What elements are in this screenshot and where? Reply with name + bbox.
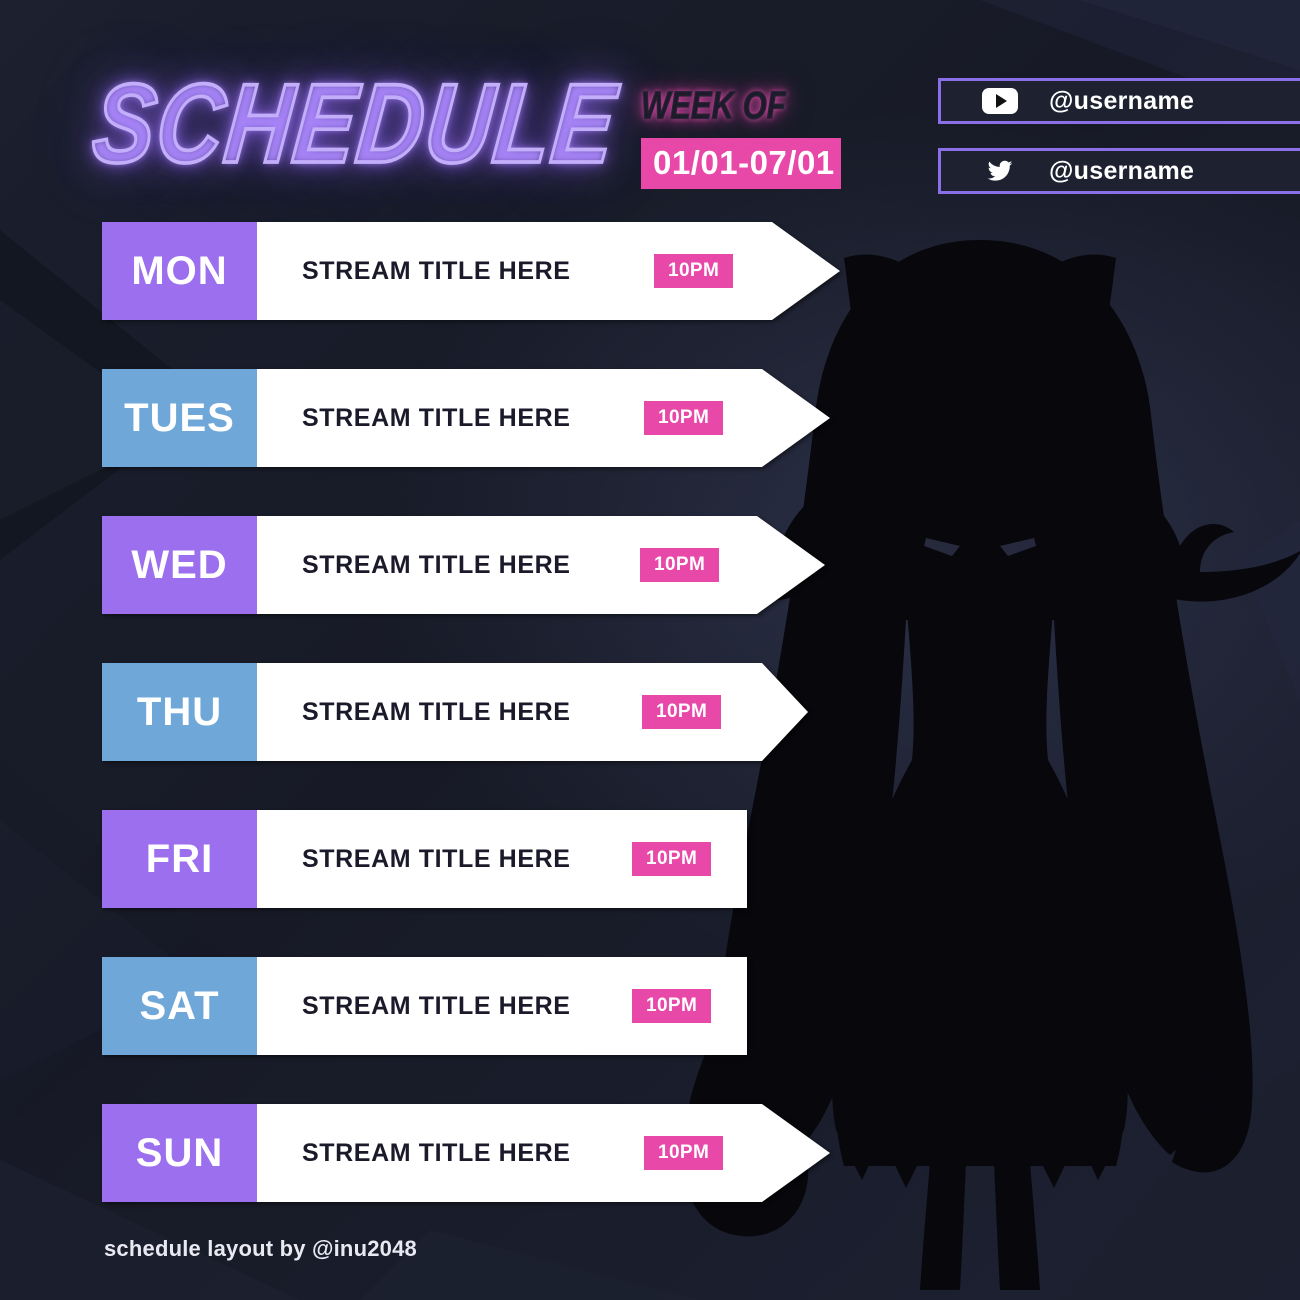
footer-credit: schedule layout by @inu2048 <box>104 1236 417 1262</box>
time-badge-tues: 10PM <box>644 401 723 435</box>
stream-title-tues: STREAM TITLE HERE <box>302 404 571 433</box>
schedule-rows: MON STREAM TITLE HERE 10PM TUES STREAM T… <box>0 0 1300 1300</box>
time-badge-fri: 10PM <box>632 842 711 876</box>
time-badge-sun: 10PM <box>644 1136 723 1170</box>
schedule-row-sat[interactable]: SAT STREAM TITLE HERE 10PM <box>102 957 747 1055</box>
day-label-sat: SAT <box>102 957 257 1055</box>
schedule-row-tues[interactable]: TUES STREAM TITLE HERE 10PM <box>102 369 830 467</box>
stream-title-thu: STREAM TITLE HERE <box>302 698 571 727</box>
day-label-fri: FRI <box>102 810 257 908</box>
time-badge-thu: 10PM <box>642 695 721 729</box>
arrow-tip-thu <box>762 663 808 761</box>
arrow-tip-tues <box>762 369 830 467</box>
day-label-mon: MON <box>102 222 257 320</box>
day-label-tues: TUES <box>102 369 257 467</box>
stream-title-wed: STREAM TITLE HERE <box>302 551 571 580</box>
day-label-sun: SUN <box>102 1104 257 1202</box>
day-label-thu: THU <box>102 663 257 761</box>
schedule-row-thu[interactable]: THU STREAM TITLE HERE 10PM <box>102 663 808 761</box>
day-label-wed: WED <box>102 516 257 614</box>
arrow-tip-wed <box>757 516 825 614</box>
schedule-row-sun[interactable]: SUN STREAM TITLE HERE 10PM <box>102 1104 830 1202</box>
arrow-tip-sun <box>762 1104 830 1202</box>
stream-title-fri: STREAM TITLE HERE <box>302 845 571 874</box>
time-badge-wed: 10PM <box>640 548 719 582</box>
schedule-row-fri[interactable]: FRI STREAM TITLE HERE 10PM <box>102 810 747 908</box>
schedule-row-mon[interactable]: MON STREAM TITLE HERE 10PM <box>102 222 840 320</box>
stream-title-sat: STREAM TITLE HERE <box>302 992 571 1021</box>
stream-title-mon: STREAM TITLE HERE <box>302 257 571 286</box>
time-badge-sat: 10PM <box>632 989 711 1023</box>
arrow-tip-mon <box>772 222 840 320</box>
schedule-row-wed[interactable]: WED STREAM TITLE HERE 10PM <box>102 516 825 614</box>
stream-title-sun: STREAM TITLE HERE <box>302 1139 571 1168</box>
schedule-graphic: SCHEDULE WEEK OF 01/01-07/01 @username @… <box>0 0 1300 1300</box>
time-badge-mon: 10PM <box>654 254 733 288</box>
